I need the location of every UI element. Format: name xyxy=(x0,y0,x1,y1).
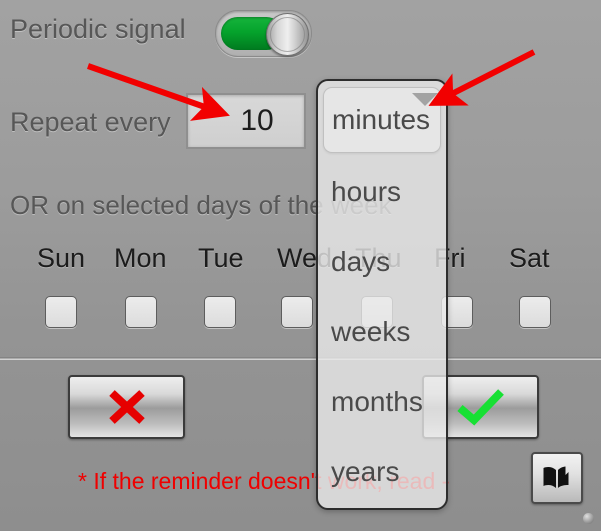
day-label-mon: Mon xyxy=(114,243,167,274)
resize-handle[interactable] xyxy=(583,513,594,524)
day-label-tue: Tue xyxy=(198,243,244,274)
cancel-button[interactable] xyxy=(68,375,185,439)
dropdown-option-label: days xyxy=(331,246,390,278)
red-x-icon xyxy=(105,387,149,427)
arrow-to-dropdown-caret xyxy=(436,52,534,102)
day-checkbox-wed[interactable] xyxy=(281,296,313,328)
repeat-every-label: Repeat every xyxy=(10,107,171,138)
day-checkbox-sun[interactable] xyxy=(45,296,77,328)
dropdown-option-days[interactable]: days xyxy=(318,227,446,297)
day-label-sat: Sat xyxy=(509,243,550,274)
toggle-knob[interactable] xyxy=(266,13,309,56)
section-divider xyxy=(0,357,601,360)
dropdown-option-years[interactable]: years xyxy=(318,437,446,507)
triangle-down-icon xyxy=(412,93,438,106)
day-label-sun: Sun xyxy=(37,243,85,274)
green-check-icon xyxy=(454,386,508,428)
repeat-interval-value: 10 xyxy=(218,104,273,138)
day-checkbox-mon[interactable] xyxy=(125,296,157,328)
dropdown-option-label: hours xyxy=(331,176,401,208)
unit-dropdown-list[interactable]: minutes hours days weeks months years xyxy=(316,79,448,510)
day-checkbox-sat[interactable] xyxy=(519,296,551,328)
dropdown-option-hours[interactable]: hours xyxy=(318,157,446,227)
dropdown-option-months[interactable]: months xyxy=(318,367,446,437)
repeat-interval-input[interactable]: 10 xyxy=(186,93,306,149)
book-icon xyxy=(542,465,572,491)
dropdown-option-label: years xyxy=(331,456,399,488)
dropdown-option-label: months xyxy=(331,386,423,418)
periodic-signal-toggle[interactable] xyxy=(215,10,312,57)
day-checkbox-tue[interactable] xyxy=(204,296,236,328)
reminder-settings-dialog: Periodic signal Repeat every 10 OR on se… xyxy=(0,0,601,531)
help-book-button[interactable] xyxy=(531,452,583,504)
periodic-signal-label: Periodic signal xyxy=(10,14,186,45)
dropdown-option-weeks[interactable]: weeks xyxy=(318,297,446,367)
dropdown-option-label: weeks xyxy=(331,316,410,348)
dropdown-option-label: minutes xyxy=(332,104,430,136)
